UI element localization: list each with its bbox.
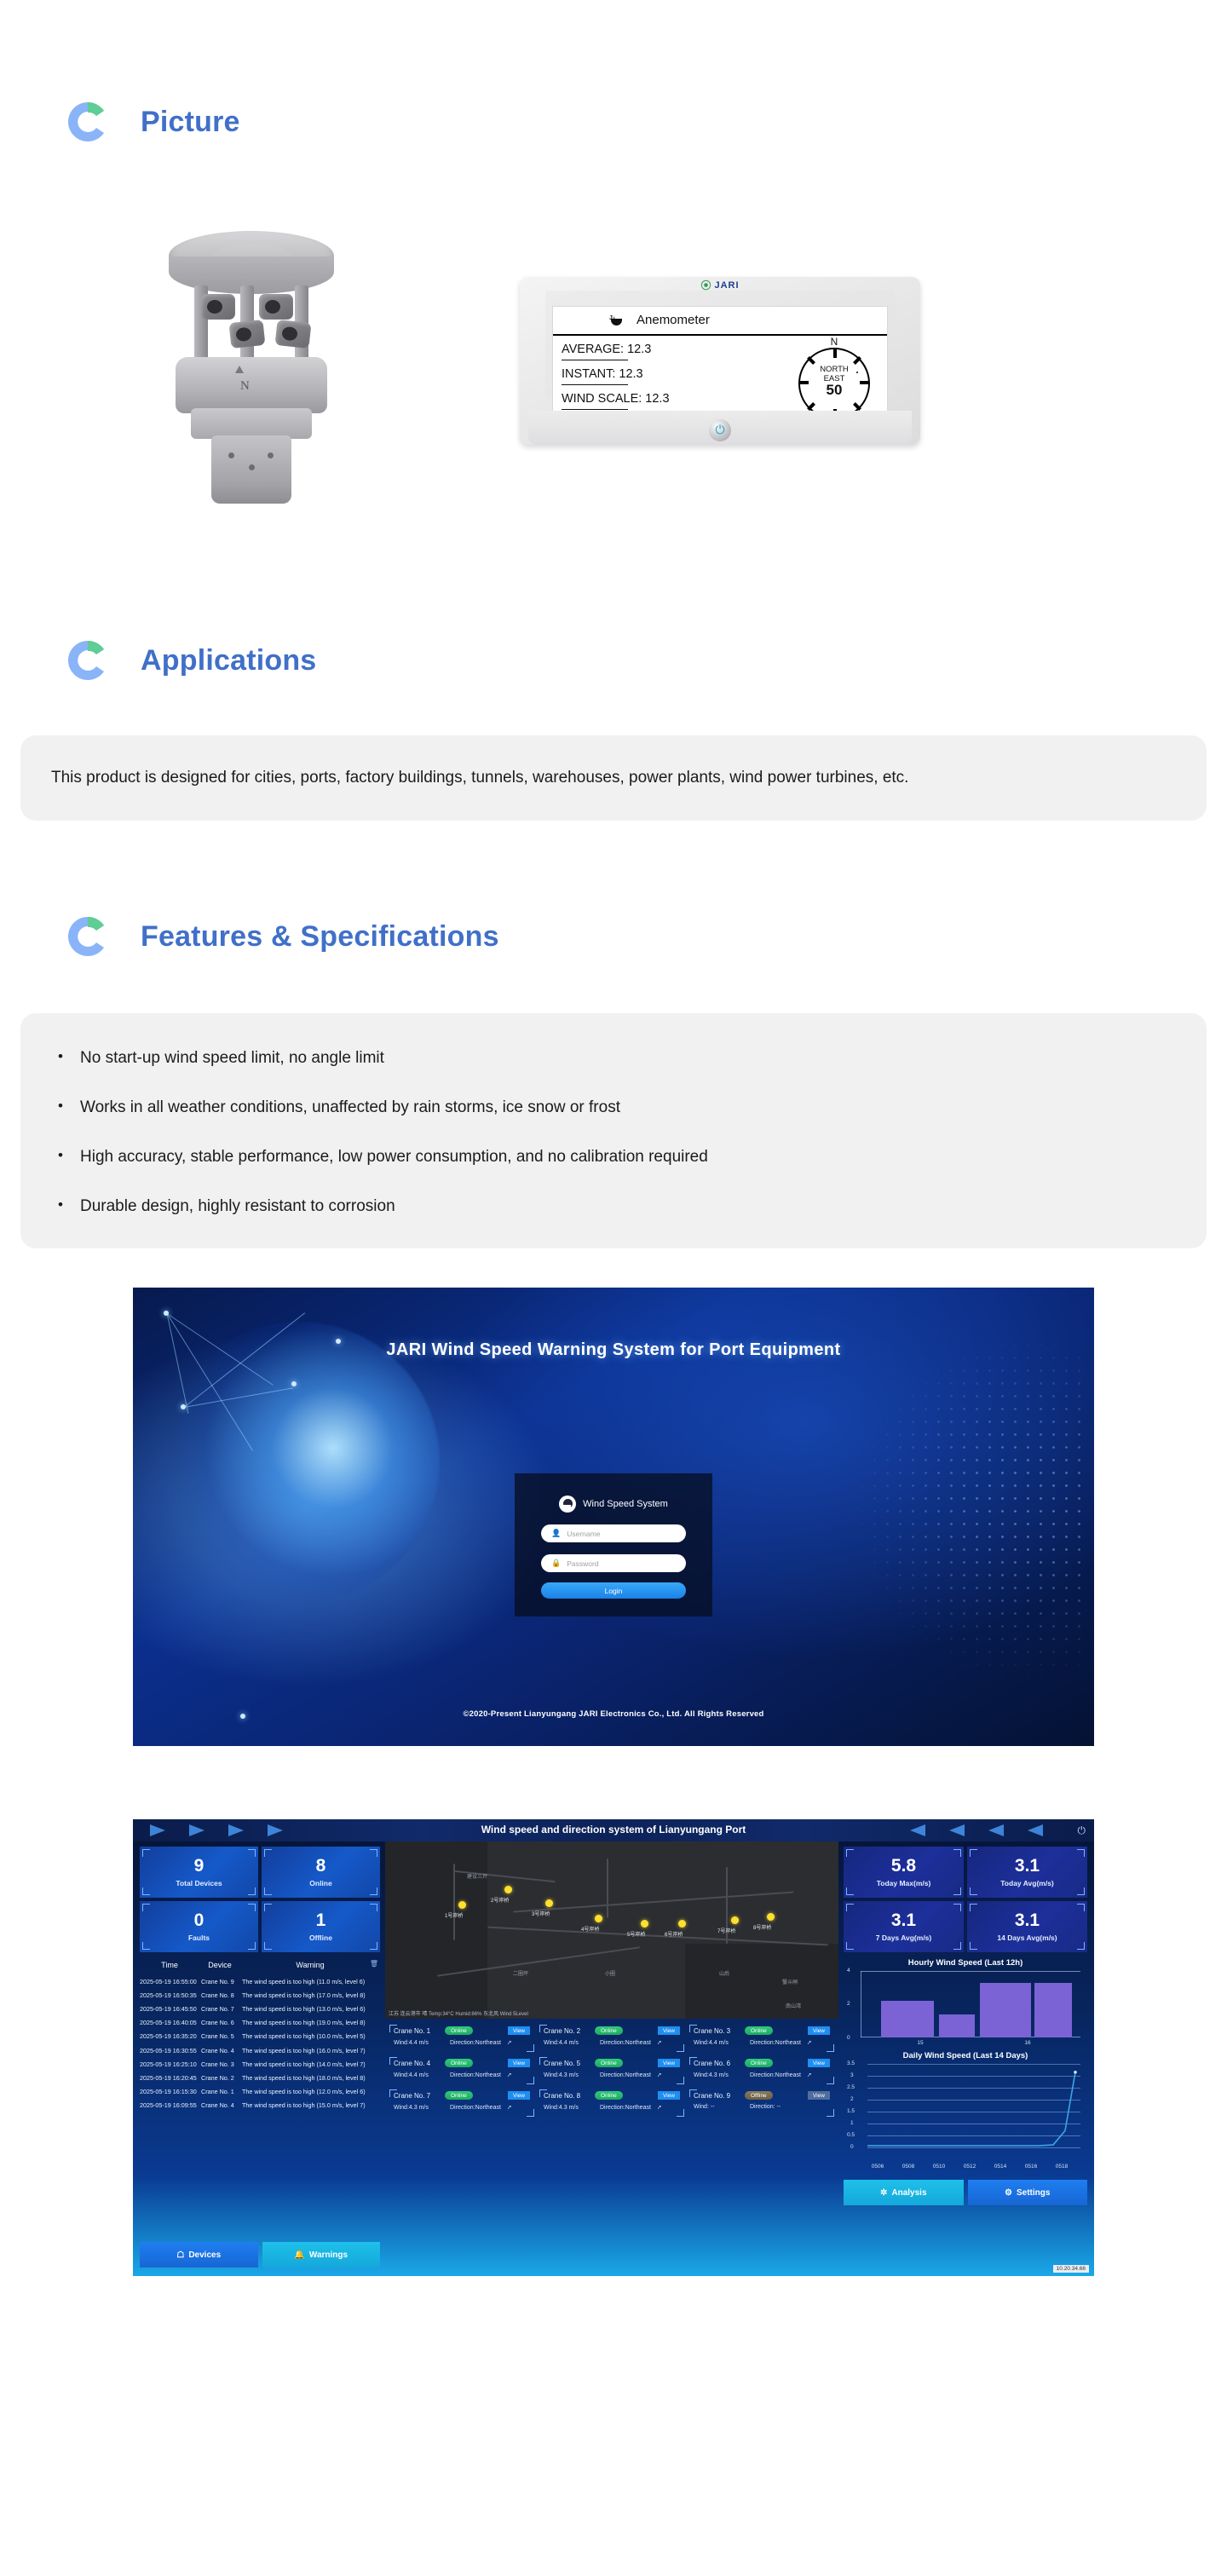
ip-badge: 10.20.34.66	[1053, 2265, 1089, 2273]
stat-card-today-avg[interactable]: 3.1 Today Avg(m/s)	[967, 1847, 1087, 1898]
table-row: 2025-05-19 16:30:55 Crane No. 4 The wind…	[140, 2043, 380, 2057]
stat-card-total-devices[interactable]: 9 Total Devices	[140, 1847, 258, 1898]
devices-button[interactable]: ☖ Devices	[140, 2242, 258, 2268]
status-badge: Online	[445, 2026, 473, 2035]
table-row: 2025-05-19 16:15:30 Crane No. 1 The wind…	[140, 2085, 380, 2099]
daily-wind-speed-chart: 3.5 3 2.5 2 1.5 1 0.5 0	[847, 2064, 1084, 2159]
login-brand: Wind Speed System	[515, 1473, 712, 1513]
crane-direction: Direction:Northeast	[450, 2040, 501, 2046]
table-row: 2025-05-19 16:25:10 Crane No. 3 The wind…	[140, 2057, 380, 2071]
features-box: No start-up wind speed limit, no angle l…	[20, 1013, 1207, 1248]
dashboard-left-panel: 9 Total Devices 8 Online 0 Faults	[133, 1841, 385, 2276]
crane-card[interactable]: Crane No. 2 Online View Wind:4.4 m/s Dir…	[537, 2022, 687, 2054]
c-logo-icon	[64, 637, 112, 684]
crane-direction: Direction:Northeast	[600, 2072, 651, 2078]
map-weather-footer: 江苏 连云港市 晴 Temp:34°C Humid:86% 东北风 Wind 5…	[389, 2009, 528, 2017]
crane-name: Crane No. 5	[544, 2060, 590, 2067]
stat-label: 7 Days Avg(m/s)	[876, 1933, 932, 1942]
applications-text: This product is designed for cities, por…	[51, 761, 1176, 795]
view-button[interactable]: View	[658, 2026, 680, 2035]
readout-average: AVERAGE: 12.3	[562, 343, 781, 356]
warnings-table-header: Time Device Warning 🗑	[140, 1959, 380, 1974]
login-screenshot: JARI Wind Speed Warning System for Port …	[133, 1288, 1094, 1746]
crane-card[interactable]: Crane No. 8 Online View Wind:4.3 m/s Dir…	[537, 2087, 687, 2119]
x-tick: 16	[1024, 2040, 1030, 2046]
dot-pattern-graphic	[855, 1339, 1086, 1680]
crane-direction: Direction: --	[750, 2104, 781, 2110]
view-button[interactable]: View	[508, 2059, 530, 2067]
crane-card[interactable]: Crane No. 9 Offline View Wind: -- Direct…	[687, 2087, 837, 2119]
compass-dial: NORTH EAST 50	[798, 348, 870, 419]
picture-row: N ⦿ JARI JARI Anemometer	[0, 190, 1227, 531]
page-title: Picture	[141, 107, 240, 136]
jari-swirl-icon: ⦿	[700, 278, 711, 292]
view-button[interactable]: View	[508, 2091, 530, 2100]
right-action-buttons: ✲ Analysis ⚙ Settings	[844, 2180, 1087, 2205]
crane-direction: Direction:Northeast	[750, 2072, 801, 2078]
hourly-wind-speed-chart: 4 2 0 15 16	[847, 1971, 1084, 2037]
column-header-time: Time	[140, 1961, 199, 1969]
y-tick: 1.5	[847, 2108, 855, 2114]
list-item: High accuracy, stable performance, low p…	[51, 1144, 1176, 1170]
crane-direction: Direction:Northeast	[750, 2040, 801, 2046]
stat-card-offline[interactable]: 1 Offline	[262, 1901, 380, 1952]
warnings-table: Time Device Warning 🗑 2025-05-19 16:55:0…	[140, 1959, 380, 2112]
crane-card[interactable]: Crane No. 5 Online View Wind:4.3 m/s Dir…	[537, 2054, 687, 2087]
x-tick: 0516	[1025, 2164, 1037, 2170]
arrow-icon: ➚	[657, 2104, 662, 2111]
crane-direction: Direction:Northeast	[450, 2072, 501, 2078]
arrow-icon: ➚	[657, 2072, 662, 2078]
daily-line-path	[867, 2064, 1080, 2147]
globe-graphic	[158, 1322, 440, 1603]
dashboard-header: Wind speed and direction system of Liany…	[133, 1819, 1094, 1841]
crane-name: Crane No. 2	[544, 2027, 590, 2035]
y-tick: 2	[847, 2001, 850, 2007]
compass-direction-line1: NORTH	[800, 365, 868, 374]
trash-icon[interactable]: 🗑	[370, 1960, 378, 1968]
jari-swirl-icon	[559, 1495, 576, 1513]
product-page: Picture N	[0, 98, 1227, 2310]
crane-wind: Wind:4.3 m/s	[394, 2105, 446, 2111]
readout-wind-scale: WIND SCALE: 12.3	[562, 392, 781, 406]
status-badge: Online	[595, 2026, 623, 2035]
view-button[interactable]: View	[508, 2026, 530, 2035]
stat-card-14days-avg[interactable]: 3.1 14 Days Avg(m/s)	[967, 1901, 1087, 1952]
section-title-features: Features & Specifications	[141, 922, 499, 951]
y-tick: 3	[850, 2072, 854, 2078]
x-tick: 0518	[1056, 2164, 1068, 2170]
y-tick: 2	[850, 2096, 854, 2102]
crane-direction: Direction:Northeast	[600, 2105, 651, 2111]
y-tick: 4	[847, 1968, 850, 1974]
login-button[interactable]: Login	[541, 1582, 686, 1599]
stat-value: 3.1	[1015, 1857, 1040, 1875]
y-tick: 0.5	[847, 2132, 855, 2138]
crane-wind: Wind:4.4 m/s	[394, 2040, 446, 2046]
user-icon: 👤	[551, 1529, 561, 1538]
analysis-icon: ✲	[880, 2188, 887, 2198]
stat-label: 14 Days Avg(m/s)	[997, 1933, 1057, 1942]
password-input[interactable]: 🔒 Password	[541, 1554, 686, 1572]
power-icon: ⏻	[715, 423, 724, 437]
username-placeholder: Username	[567, 1530, 600, 1538]
arrow-icon: ➚	[507, 2104, 512, 2111]
list-item: No start-up wind speed limit, no angle l…	[51, 1046, 1176, 1071]
stat-value: 3.1	[891, 1911, 916, 1929]
y-tick: 1	[850, 2120, 854, 2126]
y-tick: 0	[847, 2035, 850, 2041]
arrow-icon: ➚	[807, 2039, 812, 2046]
x-tick: 15	[917, 2040, 923, 2046]
readout-instant: INSTANT: 12.3	[562, 367, 781, 381]
section-header-picture: Picture	[0, 98, 1227, 146]
column-header-warning: Warning	[240, 1961, 380, 1969]
crane-direction: Direction:Northeast	[600, 2040, 651, 2046]
table-row: 2025-05-19 16:55:00 Crane No. 9 The wind…	[140, 1974, 380, 1988]
section-header-applications: Applications	[0, 637, 1227, 684]
bell-icon: 🔔	[294, 2250, 304, 2260]
stat-value: 1	[316, 1911, 326, 1929]
arrow-icon: ➚	[507, 2072, 512, 2078]
crane-name: Crane No. 7	[394, 2092, 440, 2100]
y-tick: 2.5	[847, 2084, 855, 2090]
stat-value: 9	[194, 1857, 204, 1875]
login-heading: JARI Wind Speed Warning System for Port …	[133, 1340, 1094, 1360]
crane-wind: Wind: --	[694, 2104, 746, 2110]
stat-card-online[interactable]: 8 Online	[262, 1847, 380, 1898]
crane-card[interactable]: Crane No. 3 Online View Wind:4.4 m/s Dir…	[687, 2022, 837, 2054]
hourly-chart-title: Hourly Wind Speed (Last 12h)	[844, 1958, 1087, 1968]
anemometer-display-device: ⦿ JARI JARI Anemometer AVERAGE: 12.3 INS…	[520, 277, 920, 445]
compass-north-label: N	[831, 337, 838, 347]
login-card: Wind Speed System 👤 Username 🔒 Password …	[515, 1473, 712, 1616]
status-badge: Online	[595, 2091, 623, 2100]
status-badge: Online	[745, 2026, 773, 2035]
power-button[interactable]: ⏻	[709, 419, 731, 441]
port-map[interactable]: 建设三开 二圈坪 小圈 山后 蟹斗闸 南山湾 1号岸桥 2号岸桥 3号岸桥 4号…	[385, 1841, 838, 2019]
password-placeholder: Password	[567, 1559, 598, 1568]
dashboard-right-panel: 5.8 Today Max(m/s) 3.1 Today Avg(m/s) 3.…	[838, 1841, 1094, 2276]
crane-card[interactable]: Crane No. 7 Online View Wind:4.3 m/s Dir…	[387, 2087, 537, 2119]
settings-button[interactable]: ⚙ Settings	[968, 2180, 1088, 2205]
stat-label: Online	[309, 1879, 331, 1887]
c-logo-icon	[64, 98, 112, 146]
list-item: Works in all weather conditions, unaffec…	[51, 1095, 1176, 1121]
stat-label: Total Devices	[176, 1879, 222, 1887]
c-logo-icon	[64, 913, 112, 960]
x-tick: 0510	[933, 2164, 945, 2170]
device-brand: ⦿ JARI	[520, 279, 920, 292]
sensor-north-label: N	[240, 379, 250, 394]
copyright-text: ©2020-Present Lianyungang JARI Electroni…	[133, 1709, 1094, 1719]
table-row: 2025-05-19 16:45:50 Crane No. 7 The wind…	[140, 2002, 380, 2015]
power-icon[interactable]: ⏻	[1078, 1824, 1086, 1837]
x-tick: 0506	[872, 2164, 884, 2170]
crane-wind: Wind:4.4 m/s	[394, 2072, 446, 2078]
wind-stats-grid: 5.8 Today Max(m/s) 3.1 Today Avg(m/s) 3.…	[844, 1847, 1087, 1952]
crane-name: Crane No. 1	[394, 2027, 440, 2035]
table-row: 2025-05-19 16:09:55 Crane No. 4 The wind…	[140, 2099, 380, 2112]
ultrasonic-anemometer-image: N	[162, 190, 341, 531]
crane-card[interactable]: Crane No. 6 Online View Wind:4.3 m/s Dir…	[687, 2054, 837, 2087]
stat-value: 0	[194, 1911, 204, 1929]
y-tick: 3.5	[847, 2060, 855, 2066]
crane-status-grid: Crane No. 1 Online View Wind:4.4 m/s Dir…	[385, 2019, 838, 2276]
stat-card-faults[interactable]: 0 Faults	[140, 1901, 258, 1952]
crane-name: Crane No. 3	[694, 2027, 740, 2035]
crane-wind: Wind:4.3 m/s	[694, 2072, 746, 2078]
crane-name: Crane No. 8	[544, 2092, 590, 2100]
column-header-device: Device	[199, 1961, 240, 1969]
section-title-applications: Applications	[141, 646, 316, 675]
stat-value: 8	[316, 1857, 326, 1875]
stat-label: Offline	[309, 1933, 332, 1942]
gear-icon: ⚙	[1005, 2188, 1012, 2198]
screen-title: Anemometer	[637, 313, 710, 327]
crane-name: Crane No. 6	[694, 2060, 740, 2067]
stat-label: Today Avg(m/s)	[1000, 1879, 1054, 1887]
section-header-features: Features & Specifications	[0, 913, 1227, 960]
applications-box: This product is designed for cities, por…	[20, 735, 1207, 821]
username-input[interactable]: 👤 Username	[541, 1524, 686, 1542]
x-tick: 0514	[994, 2164, 1006, 2170]
lock-icon: 🔒	[551, 1559, 561, 1568]
table-row: 2025-05-19 16:35:20 Crane No. 5 The wind…	[140, 2030, 380, 2043]
left-action-buttons: ☖ Devices 🔔 Warnings	[140, 2242, 380, 2268]
status-badge: Online	[745, 2059, 773, 2067]
arrow-icon: ➚	[507, 2039, 512, 2046]
dashboard-screenshot: Wind speed and direction system of Liany…	[133, 1780, 1094, 2276]
compass-value: 50	[800, 385, 868, 395]
crane-wind: Wind:4.3 m/s	[544, 2105, 596, 2111]
crane-wind: Wind:4.3 m/s	[544, 2072, 596, 2078]
jari-logo-icon: JARI	[606, 308, 628, 324]
warnings-button[interactable]: 🔔 Warnings	[262, 2242, 381, 2268]
x-tick: 0508	[902, 2164, 914, 2170]
table-row: 2025-05-19 16:50:35 Crane No. 8 The wind…	[140, 1988, 380, 2002]
crane-direction: Direction:Northeast	[450, 2105, 501, 2111]
view-button[interactable]: View	[808, 2091, 830, 2100]
crane-wind: Wind:4.4 m/s	[544, 2040, 596, 2046]
daily-chart-title: Daily Wind Speed (Last 14 Days)	[844, 2051, 1087, 2060]
status-badge: Online	[595, 2059, 623, 2067]
dashboard-center-panel: 建设三开 二圈坪 小圈 山后 蟹斗闸 南山湾 1号岸桥 2号岸桥 3号岸桥 4号…	[385, 1841, 838, 2276]
list-item: Durable design, highly resistant to corr…	[51, 1194, 1176, 1219]
table-row: 2025-05-19 16:20:45 Crane No. 2 The wind…	[140, 2071, 380, 2084]
status-badge: Offline	[745, 2091, 773, 2100]
arrow-icon: ➚	[657, 2039, 662, 2046]
stat-card-today-max[interactable]: 5.8 Today Max(m/s)	[844, 1847, 964, 1898]
status-badge: Online	[445, 2091, 473, 2100]
dashboard-title: Wind speed and direction system of Liany…	[133, 1824, 1094, 1835]
x-tick: 0512	[964, 2164, 976, 2170]
stat-value: 5.8	[891, 1857, 916, 1875]
view-button[interactable]: View	[808, 2026, 830, 2035]
status-badge: Online	[445, 2059, 473, 2067]
features-list: No start-up wind speed limit, no angle l…	[51, 1046, 1176, 1219]
devices-icon: ☖	[176, 2250, 184, 2260]
arrow-icon: ➚	[807, 2072, 812, 2078]
y-tick: 0	[850, 2144, 854, 2150]
crane-card[interactable]: Crane No. 1 Online View Wind:4.4 m/s Dir…	[387, 2022, 537, 2054]
view-button[interactable]: View	[658, 2059, 680, 2067]
device-stats-grid: 9 Total Devices 8 Online 0 Faults	[140, 1847, 380, 1952]
view-button[interactable]: View	[658, 2091, 680, 2100]
view-button[interactable]: View	[808, 2059, 830, 2067]
stat-label: Faults	[188, 1933, 210, 1942]
stat-value: 3.1	[1015, 1911, 1040, 1929]
crane-wind: Wind:4.4 m/s	[694, 2040, 746, 2046]
stat-card-7days-avg[interactable]: 3.1 7 Days Avg(m/s)	[844, 1901, 964, 1952]
login-brand-label: Wind Speed System	[583, 1499, 668, 1509]
stat-label: Today Max(m/s)	[877, 1879, 931, 1887]
crane-name: Crane No. 9	[694, 2092, 740, 2100]
crane-card[interactable]: Crane No. 4 Online View Wind:4.4 m/s Dir…	[387, 2054, 537, 2087]
analysis-button[interactable]: ✲ Analysis	[844, 2180, 964, 2205]
table-row: 2025-05-19 16:40:05 Crane No. 6 The wind…	[140, 2016, 380, 2030]
crane-name: Crane No. 4	[394, 2060, 440, 2067]
